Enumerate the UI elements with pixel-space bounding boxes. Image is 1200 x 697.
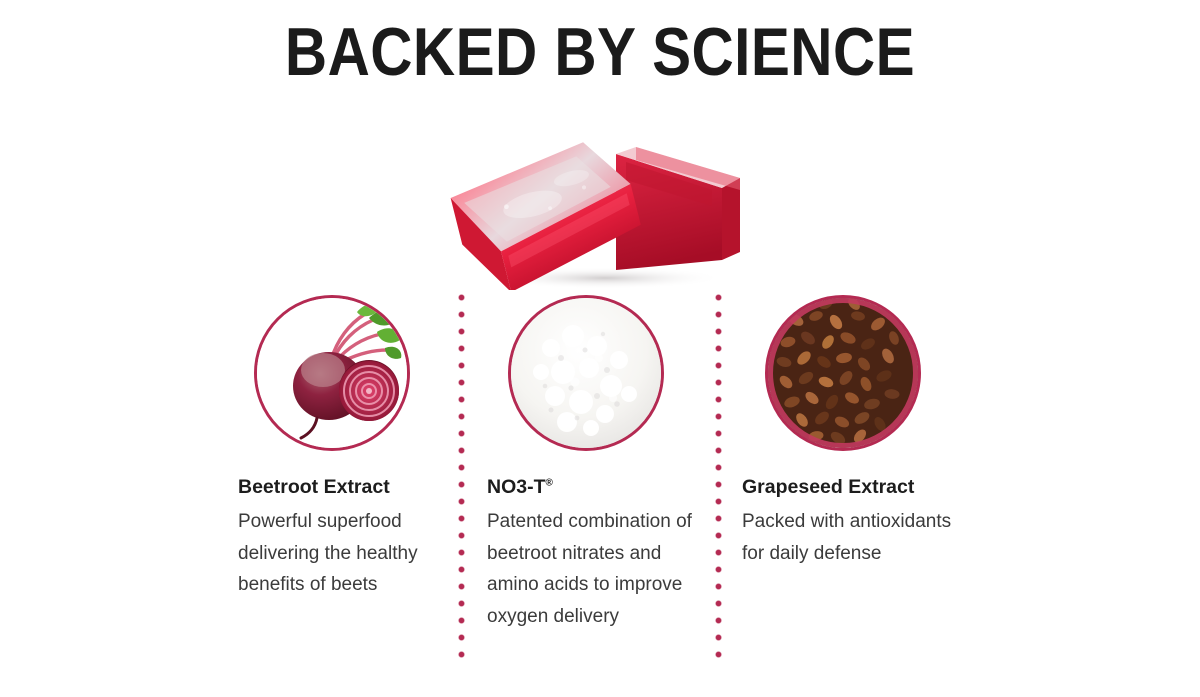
ingredient-column-beetroot: Beetroot Extract Powerful superfood deli…	[238, 295, 438, 601]
white-powder-image	[508, 295, 664, 451]
backed-by-science-infographic: BACKED BY SCIENCE	[0, 0, 1200, 697]
column-divider-2	[715, 294, 722, 662]
ingredient-heading-text: NO3-T	[487, 476, 546, 498]
column-divider-1	[458, 294, 465, 662]
ingredient-column-grapeseed: Grapeseed Extract Packed with antioxidan…	[742, 295, 967, 569]
grapeseed-image	[765, 295, 921, 451]
beetroot-image	[254, 295, 410, 451]
hero-gummy-image	[440, 110, 760, 290]
ingredient-heading: Grapeseed Extract	[742, 475, 967, 499]
registered-trademark-icon: ®	[546, 478, 553, 489]
ingredient-column-no3t: NO3-T® Patented combination of beetroot …	[487, 295, 692, 632]
page-title: BACKED BY SCIENCE	[84, 14, 1116, 90]
ingredient-description: Packed with antioxidants for daily defen…	[742, 506, 967, 569]
ingredient-heading: NO3-T®	[487, 475, 692, 499]
ingredient-description: Powerful superfood delivering the health…	[238, 506, 438, 601]
ingredient-heading: Beetroot Extract	[238, 475, 438, 499]
ingredient-description: Patented combination of beetroot nitrate…	[487, 506, 692, 632]
